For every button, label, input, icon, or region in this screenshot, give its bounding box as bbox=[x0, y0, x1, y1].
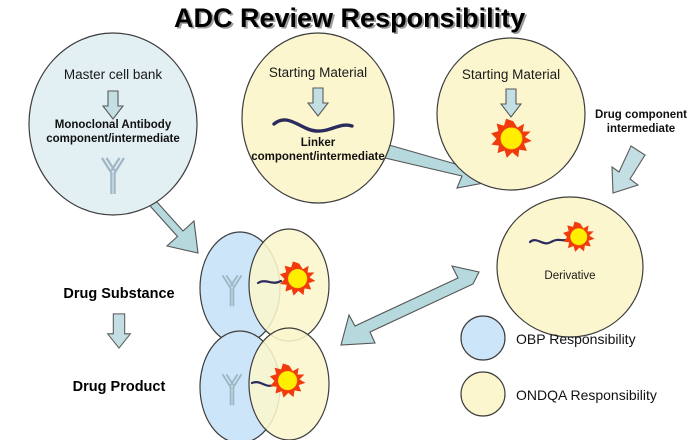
legend-swatch-ondqa-circle bbox=[461, 372, 505, 416]
legend-swatch-obp-circle bbox=[461, 316, 505, 360]
node-drug-starting-material[interactable]: Starting Material bbox=[437, 38, 585, 190]
derivative-circle[interactable] bbox=[497, 197, 643, 337]
drug-product-label: Drug Product bbox=[73, 379, 166, 395]
monoclonal-antibody-line1: Monoclonal Antibody bbox=[55, 119, 172, 131]
drug-starting-material-header: Starting Material bbox=[462, 67, 560, 82]
page-title-text: ADC Review Responsibility bbox=[174, 3, 525, 33]
conjugate-top-pair[interactable] bbox=[200, 229, 329, 344]
conjugate-bottom-pair[interactable] bbox=[200, 328, 329, 440]
node-derivative[interactable]: Derivative bbox=[497, 197, 643, 337]
linker-squiggle-icon bbox=[258, 281, 281, 283]
master-cell-bank-header: Master cell bank bbox=[64, 67, 163, 82]
derivative-label: Derivative bbox=[544, 270, 595, 282]
linker-starting-material-circle[interactable] bbox=[242, 33, 394, 203]
linker-label-line2: component/intermediate bbox=[251, 151, 385, 163]
drug-component-intermediate-line1: Drug component bbox=[595, 109, 687, 121]
diagram-canvas: ADC Review Responsibility ADC Review Res… bbox=[0, 0, 700, 440]
node-master-cell-bank[interactable]: Master cell bank Monoclonal Antibody com… bbox=[29, 33, 197, 215]
node-linker-starting-material[interactable]: Starting Material Linker component/inter… bbox=[242, 33, 394, 203]
linker-starting-material-header: Starting Material bbox=[269, 65, 367, 80]
page-title: ADC Review Responsibility ADC Review Res… bbox=[174, 3, 527, 35]
adc-review-responsibility-diagram: ADC Review Responsibility ADC Review Res… bbox=[0, 0, 700, 440]
drug-substance-label: Drug Substance bbox=[63, 286, 174, 302]
linker-label-line1: Linker bbox=[301, 137, 336, 149]
legend-label-ondqa: ONDQA Responsibility bbox=[516, 387, 657, 403]
monoclonal-antibody-line2: component/intermediate bbox=[46, 133, 180, 145]
legend-label-obp: OBP Responsibility bbox=[516, 331, 636, 347]
drug-component-intermediate-line2: intermediate bbox=[607, 123, 675, 135]
